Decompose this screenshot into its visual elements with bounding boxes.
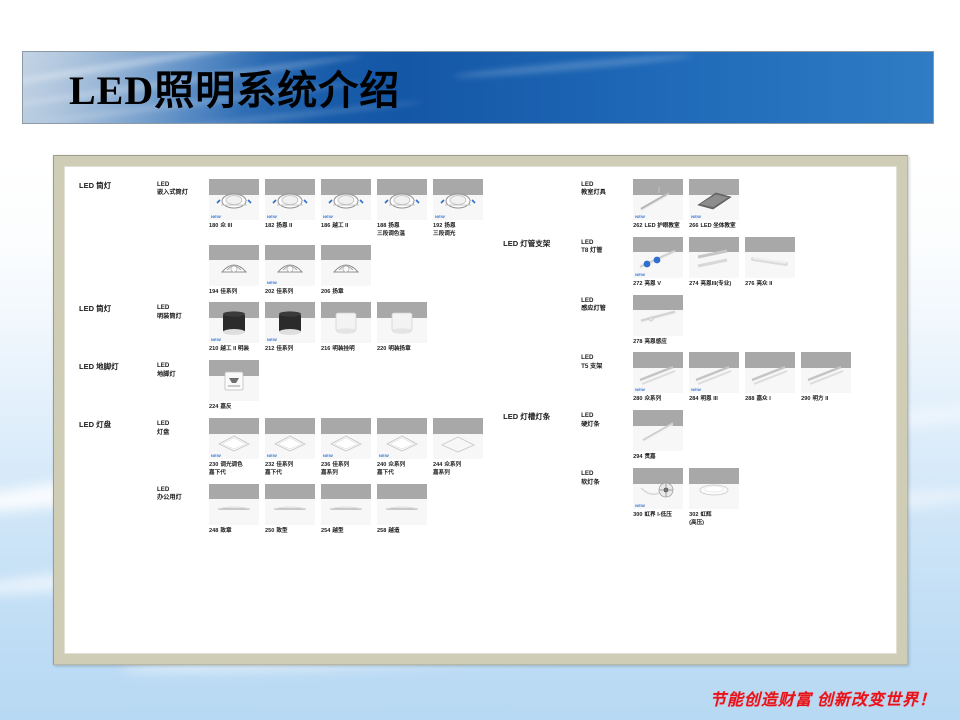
product-thumbnail[interactable]	[377, 484, 427, 525]
item-name: 佳系列	[276, 289, 293, 295]
item-name: 扬恩	[388, 223, 399, 229]
item-number: 262	[633, 223, 642, 229]
product-silhouette-icon	[265, 484, 315, 525]
item-caption: 272亮恩 V	[633, 281, 685, 289]
product-silhouette-icon	[321, 245, 371, 286]
product-thumbnail[interactable]	[633, 410, 683, 451]
product-thumbnail[interactable]: NEW	[633, 468, 683, 509]
product-silhouette-icon	[209, 360, 259, 401]
item-name: 扬恩	[444, 223, 455, 229]
catalog-item[interactable]: 224嘉反	[209, 360, 261, 412]
product-thumbnail[interactable]: NEW	[265, 179, 315, 220]
item-caption: 180众 III	[209, 223, 261, 231]
item-name: 越造	[388, 528, 399, 534]
item-caption: 294贯嘉	[633, 454, 685, 462]
product-silhouette-icon	[433, 418, 483, 459]
item-caption: 288嘉众 I	[745, 396, 797, 404]
item-name: 越型	[332, 528, 343, 534]
catalog-item[interactable]: 216明装挂明	[321, 302, 373, 354]
sub-group-label-cn: 办公用灯	[157, 494, 209, 502]
sub-group-label-cn: 明装筒灯	[157, 313, 209, 321]
catalog-item[interactable]: 290明方 II	[801, 352, 853, 404]
product-thumbnail[interactable]: NEW	[689, 179, 739, 220]
item-caption: 302虹辉(高压)	[689, 512, 741, 528]
catalog-item[interactable]: NEW210越工 II 明装	[209, 302, 261, 354]
item-caption: 182扬恩 II	[265, 223, 317, 231]
item-number: 224	[209, 404, 218, 410]
item-number: 212	[265, 346, 274, 352]
product-thumbnail[interactable]	[265, 484, 315, 525]
group-title	[79, 484, 157, 486]
catalog-item[interactable]: NEW192扬恩三段调光	[433, 179, 485, 239]
sub-group-label-cn: 灯盘	[157, 429, 209, 437]
item-caption: 216明装挂明	[321, 346, 373, 354]
item-name: 佳系列	[276, 346, 293, 352]
catalog-item[interactable]: NEW230调光调色嘉下代	[209, 418, 261, 478]
item-caption: 300虹界 I-低压	[633, 512, 685, 520]
item-name: 明恩 III	[700, 396, 717, 402]
sub-group-label: LED地脚灯	[157, 360, 209, 379]
catalog-group-row: LED 筒灯LED明装筒灯NEW210越工 II 明装NEW212佳系列216明…	[79, 302, 497, 354]
catalog-item[interactable]: NEW182扬恩 II	[265, 179, 317, 239]
item-name: 虹界 I-低压	[644, 512, 671, 518]
sub-group-label: LED办公用灯	[157, 484, 209, 503]
catalog-item[interactable]: NEW202佳系列	[265, 245, 317, 297]
product-thumbnail[interactable]: NEW	[321, 179, 371, 220]
product-thumbnail[interactable]	[745, 352, 795, 393]
sub-group-label-cn: 感应灯管	[581, 305, 633, 313]
item-number: 220	[377, 346, 386, 352]
new-badge: NEW	[323, 215, 333, 219]
new-badge: NEW	[267, 338, 277, 342]
item-number: 272	[633, 281, 642, 287]
catalog-item[interactable]: 288嘉众 I	[745, 352, 797, 404]
group-title: LED 筒灯	[79, 302, 157, 314]
product-thumbnail[interactable]	[745, 237, 795, 278]
product-thumbnail[interactable]	[377, 179, 427, 220]
sub-group-label-cn: 地脚灯	[157, 371, 209, 379]
item-caption: 250致型	[265, 528, 317, 536]
sub-group-label-en: LED	[581, 412, 633, 420]
product-thumbnail[interactable]: NEW	[689, 352, 739, 393]
new-badge: NEW	[267, 215, 277, 219]
new-badge: NEW	[323, 454, 333, 458]
item-number: 294	[633, 454, 642, 460]
sub-group-label: LED感应灯管	[581, 295, 633, 314]
item-caption: 192扬恩三段调光	[433, 223, 485, 239]
catalog-item-list: 194佳系列NEW202佳系列206扬章	[209, 245, 377, 297]
new-badge: NEW	[635, 215, 645, 219]
catalog-group-row: LED 灯盘LED灯盘NEW230调光调色嘉下代NEW232佳系列嘉下代NEW2…	[79, 418, 497, 478]
product-silhouette-icon	[689, 237, 739, 278]
new-badge: NEW	[691, 388, 701, 392]
item-name: 亮恩III(专业)	[700, 281, 731, 287]
item-name-line2: 嘉系列	[433, 470, 485, 478]
product-thumbnail[interactable]	[209, 360, 259, 401]
item-number: 280	[633, 396, 642, 402]
product-thumbnail[interactable]	[321, 245, 371, 286]
item-caption: 194佳系列	[209, 289, 261, 297]
item-number: 274	[689, 281, 698, 287]
item-name: 众系列	[644, 396, 661, 402]
title-banner: LED照明系统介绍	[22, 51, 934, 124]
item-number: 210	[209, 346, 218, 352]
catalog-page: LED 筒灯LED嵌入式筒灯NEW180众 IIINEW182扬恩 IINEW1…	[64, 166, 897, 654]
catalog-item[interactable]: NEW262LED 护眼教室	[633, 179, 685, 231]
catalog-item[interactable]: 220明装扬章	[377, 302, 429, 354]
catalog-item[interactable]: NEW236佳系列嘉系列	[321, 418, 373, 478]
catalog-group-row: LEDT5 支架NEW280众系列NEW284明恩 III288嘉众 I290明…	[503, 352, 896, 404]
new-badge: NEW	[635, 388, 645, 392]
item-caption: 280众系列	[633, 396, 685, 404]
catalog-frame: LED 筒灯LED嵌入式筒灯NEW180众 IIINEW182扬恩 IINEW1…	[53, 155, 908, 665]
item-name: 越工 II	[332, 223, 348, 229]
catalog-item-list: NEW180众 IIINEW182扬恩 IINEW186越工 II188扬恩三段…	[209, 179, 489, 239]
product-thumbnail[interactable]: NEW	[633, 352, 683, 393]
item-number: 240	[377, 462, 386, 468]
item-name: 众系列	[444, 462, 461, 468]
product-thumbnail[interactable]: NEW	[265, 302, 315, 343]
item-number: 302	[689, 512, 698, 518]
catalog-item-list: NEW210越工 II 明装NEW212佳系列216明装挂明220明装扬章	[209, 302, 433, 354]
catalog-item[interactable]: 244众系列嘉系列	[433, 418, 485, 478]
group-title	[503, 468, 581, 470]
item-number: 250	[265, 528, 274, 534]
product-silhouette-icon	[209, 245, 259, 286]
item-caption: 230调光调色嘉下代	[209, 462, 261, 478]
item-name: 调光调色	[220, 462, 242, 468]
catalog-left-column: LED 筒灯LED嵌入式筒灯NEW180众 IIINEW182扬恩 IINEW1…	[65, 167, 497, 653]
catalog-item-list: NEW280众系列NEW284明恩 III288嘉众 I290明方 II	[633, 352, 857, 404]
catalog-item-list: NEW262LED 护眼教室NEW266LED 坐体教室	[633, 179, 745, 231]
catalog-item-list: 278亮恩感应	[633, 295, 689, 347]
group-title: LED 筒灯	[79, 179, 157, 191]
product-thumbnail[interactable]	[377, 302, 427, 343]
catalog-item[interactable]: NEW266LED 坐体教室	[689, 179, 741, 231]
sub-group-label: LED灯盘	[157, 418, 209, 437]
product-thumbnail[interactable]	[209, 245, 259, 286]
item-caption: 220明装扬章	[377, 346, 429, 354]
product-thumbnail[interactable]	[801, 352, 851, 393]
item-caption: 186越工 II	[321, 223, 373, 231]
catalog-item[interactable]: 276亮众 II	[745, 237, 797, 289]
catalog-group-row: 194佳系列NEW202佳系列206扬章	[79, 245, 497, 297]
new-badge: NEW	[211, 338, 221, 342]
product-silhouette-icon	[633, 410, 683, 451]
new-badge: NEW	[267, 454, 277, 458]
item-caption: 262LED 护眼教室	[633, 223, 685, 231]
new-badge: NEW	[635, 273, 645, 277]
catalog-item[interactable]: NEW272亮恩 V	[633, 237, 685, 289]
item-caption: 236佳系列嘉系列	[321, 462, 373, 478]
item-name: 明装扬章	[388, 346, 410, 352]
sub-group-label: LEDT5 支架	[581, 352, 633, 371]
item-name: LED 坐体教室	[700, 223, 735, 229]
item-name-line2: 三段调色温	[377, 231, 429, 239]
item-name: 明装挂明	[332, 346, 354, 352]
product-thumbnail[interactable]: NEW	[433, 179, 483, 220]
item-name-line2: 三段调光	[433, 231, 485, 239]
new-badge: NEW	[267, 281, 277, 285]
item-number: 244	[433, 462, 442, 468]
item-caption: 248致章	[209, 528, 261, 536]
product-silhouette-icon	[633, 295, 683, 336]
catalog-group-row: LED 筒灯LED嵌入式筒灯NEW180众 IIINEW182扬恩 IINEW1…	[79, 179, 497, 239]
item-number: 254	[321, 528, 330, 534]
catalog-item[interactable]: NEW186越工 II	[321, 179, 373, 239]
catalog-item[interactable]: 274亮恩III(专业)	[689, 237, 741, 289]
item-name-line2: 嘉下代	[377, 470, 429, 478]
catalog-group-row: LED软灯条NEW300虹界 I-低压302虹辉(高压)	[503, 468, 896, 528]
sub-group-label: LED软灯条	[581, 468, 633, 487]
item-name: 致章	[220, 528, 231, 534]
item-caption: 258越造	[377, 528, 429, 536]
product-silhouette-icon	[745, 237, 795, 278]
page-title: LED照明系统介绍	[69, 57, 400, 115]
product-thumbnail[interactable]: NEW	[209, 179, 259, 220]
product-thumbnail[interactable]	[433, 418, 483, 459]
item-number: 202	[265, 289, 274, 295]
item-caption: 202佳系列	[265, 289, 317, 297]
item-number: 248	[209, 528, 218, 534]
sub-group-label-cn: 软灯条	[581, 479, 633, 487]
catalog-item[interactable]: 278亮恩感应	[633, 295, 685, 347]
product-thumbnail[interactable]	[209, 484, 259, 525]
item-number: 258	[377, 528, 386, 534]
catalog-item[interactable]: 258越造	[377, 484, 429, 536]
item-caption: 212佳系列	[265, 346, 317, 354]
item-number: 278	[633, 339, 642, 345]
group-title: LED 灯盘	[79, 418, 157, 430]
sub-group-label: LED硬灯条	[581, 410, 633, 429]
item-name: 贯嘉	[644, 454, 655, 460]
product-thumbnail[interactable]	[689, 468, 739, 509]
item-name: LED 护眼教室	[644, 223, 679, 229]
product-silhouette-icon	[689, 468, 739, 509]
new-badge: NEW	[691, 215, 701, 219]
catalog-item[interactable]: NEW180众 III	[209, 179, 261, 239]
item-name-line2: 嘉下代	[265, 470, 317, 478]
catalog-group-row: LED教室灯具NEW262LED 护眼教室NEW266LED 坐体教室	[503, 179, 896, 231]
catalog-item[interactable]: 206扬章	[321, 245, 373, 297]
catalog-group-row: LED办公用灯248致章250致型254越型258越造	[79, 484, 497, 536]
sub-group-label-en: LED	[581, 470, 633, 478]
item-number: 188	[377, 223, 386, 229]
group-title	[503, 179, 581, 181]
catalog-group-row: LED 灯槽灯条LED硬灯条294贯嘉	[503, 410, 896, 462]
new-badge: NEW	[211, 454, 221, 458]
item-number: 186	[321, 223, 330, 229]
sub-group-label: LED嵌入式筒灯	[157, 179, 209, 198]
product-thumbnail[interactable]	[321, 302, 371, 343]
item-caption: 210越工 II 明装	[209, 346, 261, 354]
item-name: 佳系列	[220, 289, 237, 295]
footer-slogan: 节能创造财富 创新改变世界！	[710, 686, 936, 710]
catalog-right-column: LED教室灯具NEW262LED 护眼教室NEW266LED 坐体教室LED 灯…	[497, 167, 896, 653]
product-thumbnail[interactable]: NEW	[633, 237, 683, 278]
item-number: 288	[745, 396, 754, 402]
item-name: 亮恩 V	[644, 281, 660, 287]
product-silhouette-icon	[209, 484, 259, 525]
item-caption: 290明方 II	[801, 396, 853, 404]
catalog-item[interactable]: 188扬恩三段调色温	[377, 179, 429, 239]
item-number: 232	[265, 462, 274, 468]
product-silhouette-icon	[745, 352, 795, 393]
new-badge: NEW	[379, 454, 389, 458]
item-number: 192	[433, 223, 442, 229]
catalog-item-list: 294贯嘉	[633, 410, 689, 462]
product-thumbnail[interactable]: NEW	[377, 418, 427, 459]
item-name: 嘉反	[220, 404, 231, 410]
product-thumbnail[interactable]: NEW	[321, 418, 371, 459]
group-title: LED 灯槽灯条	[503, 410, 581, 422]
catalog-item[interactable]: 294贯嘉	[633, 410, 685, 462]
item-name-line2: 嘉系列	[321, 470, 373, 478]
sub-group-label-cn: T5 支架	[581, 363, 633, 371]
catalog-item[interactable]: 250致型	[265, 484, 317, 536]
item-number: 194	[209, 289, 218, 295]
catalog-item[interactable]: NEW212佳系列	[265, 302, 317, 354]
item-name: 嘉众 I	[756, 396, 770, 402]
group-title: LED 灯管支架	[503, 237, 581, 249]
item-number: 284	[689, 396, 698, 402]
sub-group-label-en: LED	[581, 239, 633, 247]
item-number: 300	[633, 512, 642, 518]
item-caption: 254越型	[321, 528, 373, 536]
catalog-item[interactable]: 254越型	[321, 484, 373, 536]
catalog-item[interactable]: NEW232佳系列嘉下代	[265, 418, 317, 478]
item-number: 276	[745, 281, 754, 287]
catalog-group-row: LED 灯管支架LEDT8 灯管NEW272亮恩 V274亮恩III(专业)27…	[503, 237, 896, 289]
catalog-item[interactable]: NEW284明恩 III	[689, 352, 741, 404]
item-name: 佳系列	[276, 462, 293, 468]
group-title	[79, 245, 157, 247]
item-number: 266	[689, 223, 698, 229]
sub-group-label-en: LED	[157, 486, 209, 494]
sub-group-label: LED明装筒灯	[157, 302, 209, 321]
item-number: 206	[321, 289, 330, 295]
item-name: 致型	[276, 528, 287, 534]
item-caption: 232佳系列嘉下代	[265, 462, 317, 478]
item-number: 290	[801, 396, 810, 402]
item-caption: 224嘉反	[209, 404, 261, 412]
item-number: 216	[321, 346, 330, 352]
product-silhouette-icon	[377, 302, 427, 343]
item-caption: 266LED 坐体教室	[689, 223, 741, 231]
catalog-group-row: LED 地脚灯LED地脚灯224嘉反	[79, 360, 497, 412]
item-name: 佳系列	[332, 462, 349, 468]
sub-group-label-en: LED	[157, 304, 209, 312]
item-caption: 274亮恩III(专业)	[689, 281, 741, 289]
item-name: 扬章	[332, 289, 343, 295]
item-caption: 206扬章	[321, 289, 373, 297]
new-badge: NEW	[435, 215, 445, 219]
product-thumbnail[interactable]	[689, 237, 739, 278]
catalog-item[interactable]: NEW300虹界 I-低压	[633, 468, 685, 528]
item-name: 众 III	[220, 223, 232, 229]
product-silhouette-icon	[377, 484, 427, 525]
item-name-line2: (高压)	[689, 520, 741, 528]
catalog-item-list: NEW272亮恩 V274亮恩III(专业)276亮众 II	[633, 237, 801, 289]
item-name: 亮恩感应	[644, 339, 666, 345]
product-silhouette-icon	[801, 352, 851, 393]
item-caption: 244众系列嘉系列	[433, 462, 485, 478]
item-caption: 284明恩 III	[689, 396, 741, 404]
product-thumbnail[interactable]: NEW	[265, 418, 315, 459]
new-badge: NEW	[211, 215, 221, 219]
new-badge: NEW	[635, 504, 645, 508]
sub-group-label-cn: 教室灯具	[581, 189, 633, 197]
catalog-item[interactable]: 302虹辉(高压)	[689, 468, 741, 528]
item-caption: 278亮恩感应	[633, 339, 685, 347]
product-silhouette-icon	[377, 179, 427, 220]
item-name: 众系列	[388, 462, 405, 468]
catalog-item-list: NEW230调光调色嘉下代NEW232佳系列嘉下代NEW236佳系列嘉系列NEW…	[209, 418, 489, 478]
group-title	[503, 295, 581, 297]
product-thumbnail[interactable]	[321, 484, 371, 525]
item-caption: 188扬恩三段调色温	[377, 223, 429, 239]
catalog-item-list: 224嘉反	[209, 360, 265, 412]
sub-group-label	[157, 245, 209, 247]
sub-group-label-cn: 硬灯条	[581, 421, 633, 429]
sub-group-label-en: LED	[157, 420, 209, 428]
catalog-item-list: NEW300虹界 I-低压302虹辉(高压)	[633, 468, 745, 528]
product-thumbnail[interactable]: NEW	[633, 179, 683, 220]
sub-group-label-cn: 嵌入式筒灯	[157, 189, 209, 197]
catalog-item[interactable]: NEW240众系列嘉下代	[377, 418, 429, 478]
product-silhouette-icon	[321, 302, 371, 343]
item-number: 180	[209, 223, 218, 229]
sub-group-label-en: LED	[157, 362, 209, 370]
catalog-group-row: LED感应灯管278亮恩感应	[503, 295, 896, 347]
item-name: 扬恩 II	[276, 223, 292, 229]
product-thumbnail[interactable]: NEW	[209, 418, 259, 459]
sub-group-label-en: LED	[581, 297, 633, 305]
sub-group-label: LED教室灯具	[581, 179, 633, 198]
sub-group-label: LEDT8 灯管	[581, 237, 633, 256]
sub-group-label-cn: T8 灯管	[581, 247, 633, 255]
product-silhouette-icon	[321, 484, 371, 525]
item-name-line2: 嘉下代	[209, 470, 261, 478]
slide-canvas: LED照明系统介绍 LED 筒灯LED嵌入式筒灯NEW180众 IIINEW18…	[0, 0, 960, 720]
item-name: 明方 II	[812, 396, 828, 402]
item-caption: 240众系列嘉下代	[377, 462, 429, 478]
item-number: 230	[209, 462, 218, 468]
catalog-item-list: 248致章250致型254越型258越造	[209, 484, 433, 536]
catalog-item[interactable]: 248致章	[209, 484, 261, 536]
product-thumbnail[interactable]: NEW	[265, 245, 315, 286]
item-caption: 276亮众 II	[745, 281, 797, 289]
item-name: 越工 II 明装	[220, 346, 249, 352]
group-title: LED 地脚灯	[79, 360, 157, 372]
item-name: 虹辉	[700, 512, 711, 518]
sub-group-label-en: LED	[581, 354, 633, 362]
catalog-item[interactable]: NEW280众系列	[633, 352, 685, 404]
item-number: 236	[321, 462, 330, 468]
group-title	[503, 352, 581, 354]
product-thumbnail[interactable]	[633, 295, 683, 336]
product-thumbnail[interactable]: NEW	[209, 302, 259, 343]
item-number: 182	[265, 223, 274, 229]
item-name: 亮众 II	[756, 281, 772, 287]
catalog-item[interactable]: 194佳系列	[209, 245, 261, 297]
banner-cloud-streak-4	[453, 52, 693, 81]
